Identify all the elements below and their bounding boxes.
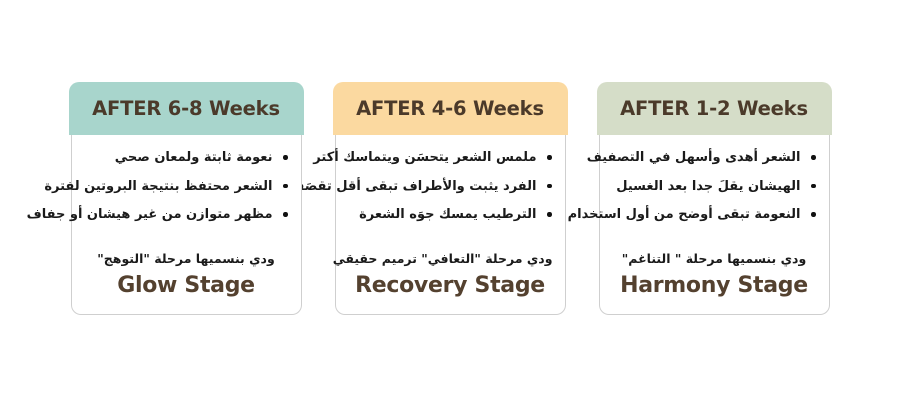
bullet-dot-icon — [811, 155, 816, 160]
list-item: الترطيب يمسك جوَه الشعرة — [348, 206, 553, 224]
bullet-dot-icon — [547, 212, 552, 217]
infographic-canvas: AFTER 1-2 Weeks الشعر أهدى وأسهل في التص… — [0, 0, 900, 400]
list-item: النعومة تبقى أوضح من أول استخدام — [612, 206, 817, 224]
list-item-label: الترطيب يمسك جوَه الشعرة — [359, 207, 536, 222]
bullet-dot-icon — [811, 212, 816, 217]
benefit-list: ملمس الشعر يتحسَن ويتماسك أكتر الفرد يثب… — [348, 149, 553, 224]
bullet-dot-icon — [811, 184, 816, 189]
card-header-glow: AFTER 6-8 Weeks — [69, 82, 304, 135]
stage-cards-row: AFTER 1-2 Weeks الشعر أهدى وأسهل في التص… — [0, 0, 900, 400]
list-item-label: نعومة ثابتة ولمعان صحي — [115, 150, 273, 165]
list-item: الشعر محتفظ بنتيجة البروتين لفترة — [84, 178, 289, 196]
list-item: نعومة ثابتة ولمعان صحي — [84, 149, 289, 167]
list-item: مظهر متوازن من غير هيشان أو جفاف — [84, 206, 289, 224]
card-body-glow: نعومة ثابتة ولمعان صحي الشعر محتفظ بنتيج… — [71, 135, 302, 315]
benefit-list: نعومة ثابتة ولمعان صحي الشعر محتفظ بنتيج… — [84, 149, 289, 224]
card-header-recovery: AFTER 4-6 Weeks — [333, 82, 568, 135]
card-stage-name: Recovery Stage — [348, 273, 553, 298]
list-item-label: الهيشان يقلَ جدا بعد الغسيل — [616, 179, 800, 194]
list-item: الهيشان يقلَ جدا بعد الغسيل — [612, 178, 817, 196]
bullet-dot-icon — [283, 155, 288, 160]
card-stage-name: Harmony Stage — [612, 273, 817, 298]
card-body-harmony: الشعر أهدى وأسهل في التصفيف الهيشان يقلَ… — [599, 135, 830, 315]
card-tagline: ودي بنسميها مرحلة " التناغم" — [612, 251, 817, 267]
bullet-dot-icon — [283, 184, 288, 189]
card-tagline: ودي بنسميها مرحلة "التوهج" — [84, 251, 289, 267]
card-footer-recovery: ودي مرحلة "التعافي" ترميم حقيقي Recovery… — [348, 225, 553, 298]
list-item-label: مظهر متوازن من غير هيشان أو جفاف — [27, 207, 273, 222]
stage-card-recovery[interactable]: AFTER 4-6 Weeks ملمس الشعر يتحسَن ويتماس… — [333, 82, 568, 315]
bullet-dot-icon — [283, 212, 288, 217]
bullet-dot-icon — [547, 155, 552, 160]
list-item-label: ملمس الشعر يتحسَن ويتماسك أكتر — [313, 150, 536, 165]
card-header-title: AFTER 4-6 Weeks — [356, 97, 544, 120]
list-item: الفرد يثبت والأطراف تبقى أقل تقصَف — [348, 178, 553, 196]
bullet-dot-icon — [547, 184, 552, 189]
stage-card-glow[interactable]: AFTER 6-8 Weeks نعومة ثابتة ولمعان صحي ا… — [69, 82, 304, 315]
card-tagline: ودي مرحلة "التعافي" ترميم حقيقي — [348, 251, 553, 267]
card-header-title: AFTER 1-2 Weeks — [620, 97, 808, 120]
list-item-label: الشعر أهدى وأسهل في التصفيف — [587, 150, 801, 165]
card-stage-name: Glow Stage — [84, 273, 289, 298]
card-footer-harmony: ودي بنسميها مرحلة " التناغم" Harmony Sta… — [612, 225, 817, 298]
card-header-title: AFTER 6-8 Weeks — [92, 97, 280, 120]
card-header-harmony: AFTER 1-2 Weeks — [597, 82, 832, 135]
list-item-label: الشعر محتفظ بنتيجة البروتين لفترة — [44, 179, 272, 194]
stage-card-harmony[interactable]: AFTER 1-2 Weeks الشعر أهدى وأسهل في التص… — [597, 82, 832, 315]
list-item: الشعر أهدى وأسهل في التصفيف — [612, 149, 817, 167]
benefit-list: الشعر أهدى وأسهل في التصفيف الهيشان يقلَ… — [612, 149, 817, 224]
card-body-recovery: ملمس الشعر يتحسَن ويتماسك أكتر الفرد يثب… — [335, 135, 566, 315]
list-item-label: النعومة تبقى أوضح من أول استخدام — [568, 207, 801, 222]
list-item-label: الفرد يثبت والأطراف تبقى أقل تقصَف — [289, 179, 536, 194]
list-item: ملمس الشعر يتحسَن ويتماسك أكتر — [348, 149, 553, 167]
card-footer-glow: ودي بنسميها مرحلة "التوهج" Glow Stage — [84, 225, 289, 298]
